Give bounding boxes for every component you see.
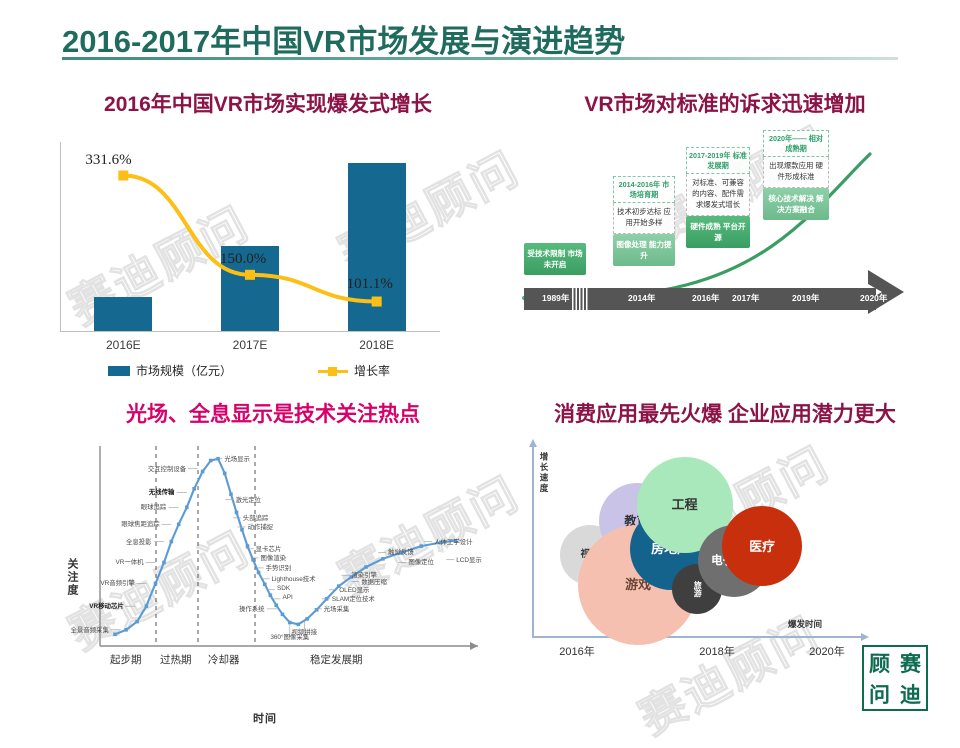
hype-point-15	[235, 511, 239, 515]
timeline-stage-2-header: 2017-2019年 标准发展期	[686, 147, 750, 174]
hype-point-34	[419, 544, 423, 548]
hype-annotation-SDK: SDK	[277, 585, 290, 592]
timeline-area: 1989年2014年2016年2017年2019年2020年 受技术限制 市场未…	[510, 130, 940, 360]
hype-annotation-API: API	[283, 594, 293, 601]
hype-annotation-VR移动芯片: VR移动芯片	[89, 601, 123, 610]
hype-point-17	[246, 544, 250, 548]
hype-annotation-VR音频引擎: VR音频引擎	[100, 578, 134, 587]
hype-annotation-VR一体机: VR一体机	[116, 557, 144, 566]
bar-category-label-2018E: 2018E	[332, 338, 422, 352]
hype-cycle-y-axis-label: 关注度	[64, 558, 80, 597]
hype-point-7	[177, 522, 181, 526]
timeline-stage-3-header: 2020年—— 相对成熟期	[763, 130, 829, 157]
timeline-stage-0-driver: 受技术限制 市场未开启	[524, 243, 586, 275]
page-title: 2016-2017年中国VR市场发展与演进趋势	[62, 16, 625, 61]
panel-standard-timeline: VR市场对标准的诉求迅速增加 1989年2014年2016年2017年2019年…	[500, 80, 950, 370]
legend-line-swatch-icon	[318, 366, 348, 376]
growth-rate-line	[60, 142, 440, 332]
bar-chart-legend: 市场规模（亿元） 增长率	[108, 362, 438, 382]
slide-header: 2016-2017年中国VR市场发展与演进趋势	[0, 0, 960, 62]
timeline-stage-2-driver: 硬件成熟 平台开源	[686, 216, 750, 248]
hype-annotation-光场采集: 光场采集	[324, 604, 350, 613]
logo-cell-2: 问	[864, 678, 895, 709]
hype-annotation-SLAM定位技术: SLAM定位技术	[332, 594, 375, 603]
bar-chart-title: 2016年中国VR市场实现爆发式增长	[48, 88, 488, 118]
bubble-label-医疗: 医疗	[749, 540, 775, 553]
hype-annotation-全息投影: 全息投影	[126, 537, 152, 546]
legend-bar-swatch-icon	[108, 366, 130, 376]
hype-point-3	[145, 604, 149, 608]
growth-marker-2018E[interactable]	[372, 297, 382, 307]
timeline-year-2020年: 2020年	[860, 292, 887, 304]
hype-annotation-操作系统: 操作系统	[239, 604, 265, 613]
hype-annotation-图像定位: 图像定位	[408, 557, 434, 566]
hype-annotation-LCD显示: LCD显示	[456, 555, 482, 564]
timeline-year-2017年: 2017年	[732, 292, 759, 304]
hype-point-20	[263, 583, 267, 587]
bubble-label-工程: 工程	[672, 498, 698, 512]
timeline-stage-3-detail: 出现爆款应用 硬件形成标准	[763, 157, 829, 187]
hype-point-16	[240, 528, 244, 532]
growth-label-2018E: 101.1%	[347, 276, 393, 293]
legend-label-growth-rate: 增长率	[354, 362, 390, 379]
timeline-stage-1[interactable]: 2014-2016年 市场培育期 技术初步达标 应用开始多样 图像处理 能力提升	[613, 176, 675, 266]
hype-point-0	[113, 633, 117, 637]
hype-point-4	[154, 582, 158, 586]
logo-cell-3: 迪	[895, 678, 926, 709]
timeline-stage-0[interactable]: 受技术限制 市场未开启	[524, 243, 586, 275]
hype-annotation-全景音频采集: 全景音频采集	[71, 625, 109, 634]
timeline-year-2019年: 2019年	[792, 292, 819, 304]
panel-hype-cycle-chart: 光场、全息显示是技术关注热点 关注度 时间 起步期 过热期 冷却器 稳定发展期 …	[48, 390, 498, 690]
hype-annotation-光场显示: 光场显示	[224, 454, 250, 463]
bubble-x-tick-2016年: 2016年	[542, 643, 612, 659]
hype-point-2	[135, 620, 139, 624]
hype-annotation-触觉反馈: 触觉反馈	[388, 547, 414, 556]
hype-point-18	[251, 558, 255, 562]
hype-point-24	[288, 621, 292, 625]
bubble-医疗[interactable]: 医疗	[722, 506, 802, 586]
hype-annotation-视频拼接: 视频拼接	[292, 627, 318, 636]
hype-point-26	[305, 617, 309, 621]
hype-point-19	[257, 571, 261, 575]
hype-point-10	[201, 470, 205, 474]
bubble-chart-x-axis	[532, 636, 862, 638]
hype-point-6	[170, 540, 174, 544]
timeline-stage-1-driver: 图像处理 能力提升	[613, 234, 675, 266]
hype-annotation-图像渲染: 图像渲染	[260, 553, 286, 562]
hype-annotation-激光定位: 激光定位	[235, 495, 261, 504]
hype-annotation-数据压缩: 数据压缩	[361, 577, 387, 586]
hype-point-9	[192, 487, 196, 491]
timeline-year-1989年: 1989年	[542, 292, 569, 304]
hype-cycle-title: 光场、全息显示是技术关注热点	[48, 398, 498, 428]
hype-cycle-x-axis-label: 时间	[253, 710, 277, 726]
hype-phase-3: 稳定发展期	[310, 652, 363, 667]
hype-cycle-area: 关注度 时间 起步期 过热期 冷却器 稳定发展期 全景音频采集VR移动芯片VR音…	[48, 438, 498, 688]
hype-point-22	[274, 603, 278, 607]
growth-marker-2016E[interactable]	[118, 171, 128, 181]
timeline-year-2014年: 2014年	[628, 292, 655, 304]
bar-category-label-2016E: 2016E	[78, 338, 168, 352]
hype-point-32	[381, 557, 385, 561]
bubble-chart-y-axis	[532, 446, 534, 638]
hype-point-5	[162, 561, 166, 565]
timeline-stage-1-header: 2014-2016年 市场培育期	[613, 176, 675, 203]
hype-phase-1: 过热期	[160, 652, 192, 667]
hype-annotation-人体工学设计: 人体工学设计	[434, 537, 472, 546]
legend-item-growth-rate[interactable]: 增长率	[318, 362, 390, 379]
slide: 2016-2017年中国VR市场发展与演进趋势 赛迪顾问赛迪顾问赛迪顾问赛迪顾问…	[0, 0, 960, 720]
logo-cell-0: 顾	[864, 647, 895, 678]
hype-annotation-眼球焦距追踪: 眼球焦距追踪	[121, 519, 159, 528]
timeline-stage-2[interactable]: 2017-2019年 标准发展期 对标准、可兼容 的内容、配件需 求爆发式增长 …	[686, 147, 750, 248]
hype-point-13	[223, 471, 227, 475]
timeline-bar-hatch-icon	[572, 288, 588, 310]
bar-chart-plot: 2016E2017E2018E 331.6%150.0%101.1%	[60, 142, 440, 332]
timeline-year-2016年: 2016年	[692, 292, 719, 304]
hype-annotation-交互控制设备: 交互控制设备	[148, 464, 186, 473]
timeline-stage-3-driver: 核心技术解决 解决方案融合	[763, 188, 829, 220]
growth-label-2016E: 331.6%	[85, 152, 131, 169]
hype-point-23	[281, 613, 285, 617]
hype-annotation-OLED显示: OLED显示	[339, 585, 369, 594]
hype-phase-2: 冷却器	[208, 652, 240, 667]
bubble-chart-y-axis-label: 增长速度	[538, 452, 550, 494]
hype-point-1	[124, 628, 128, 632]
brand-logo: 顾 赛 问 迪	[862, 645, 928, 711]
hype-annotation-手势识别: 手势识别	[266, 563, 292, 572]
hype-point-21	[269, 593, 273, 597]
legend-label-market-size: 市场规模（亿元）	[136, 362, 232, 379]
hype-annotation-眼球追踪: 眼球追踪	[141, 502, 167, 511]
growth-marker-2017E[interactable]	[245, 270, 255, 280]
timeline-stage-2-detail: 对标准、可兼容 的内容、配件需 求爆发式增长	[686, 174, 750, 215]
hype-annotation-Lighthouse技术: Lighthouse技术	[272, 574, 316, 583]
timeline-stage-1-detail: 技术初步达标 应用开始多样	[613, 203, 675, 233]
header-divider	[62, 57, 898, 60]
hype-annotation-无线传输: 无线传输	[149, 487, 175, 496]
logo-cell-1: 赛	[895, 647, 926, 678]
bubble-x-tick-2020年: 2020年	[792, 643, 862, 659]
hype-annotation-动作捕捉: 动作捕捉	[248, 522, 274, 531]
growth-label-2017E: 150.0%	[220, 251, 266, 268]
bubble-x-tick-2018年: 2018年	[682, 643, 752, 659]
hype-point-27	[315, 608, 319, 612]
legend-item-market-size[interactable]: 市场规模（亿元）	[108, 362, 232, 379]
hype-point-14	[229, 492, 233, 496]
hype-phase-0: 起步期	[110, 652, 142, 667]
hype-annotation-头部追踪: 头部追踪	[243, 513, 269, 522]
panel-market-size-chart: 2016年中国VR市场实现爆发式增长 2016E2017E2018E 331.6…	[48, 80, 488, 380]
bubble-chart-title: 消费应用最先火爆 企业应用潜力更大	[500, 398, 950, 428]
bubble-chart-x-axis-label: 爆发时间	[788, 618, 822, 630]
hype-point-8	[185, 506, 189, 510]
timeline-title: VR市场对标准的诉求迅速增加	[500, 88, 950, 118]
bubble-label-旅游: 旅游	[693, 581, 701, 597]
timeline-stage-3[interactable]: 2020年—— 相对成熟期 出现爆款应用 硬件形成标准 核心技术解决 解决方案融…	[763, 130, 829, 220]
bar-category-label-2017E: 2017E	[205, 338, 295, 352]
hype-point-11	[209, 459, 213, 463]
hype-point-31	[364, 565, 368, 569]
hype-point-25	[297, 623, 301, 627]
hype-annotation-显卡芯片: 显卡芯片	[256, 544, 282, 553]
